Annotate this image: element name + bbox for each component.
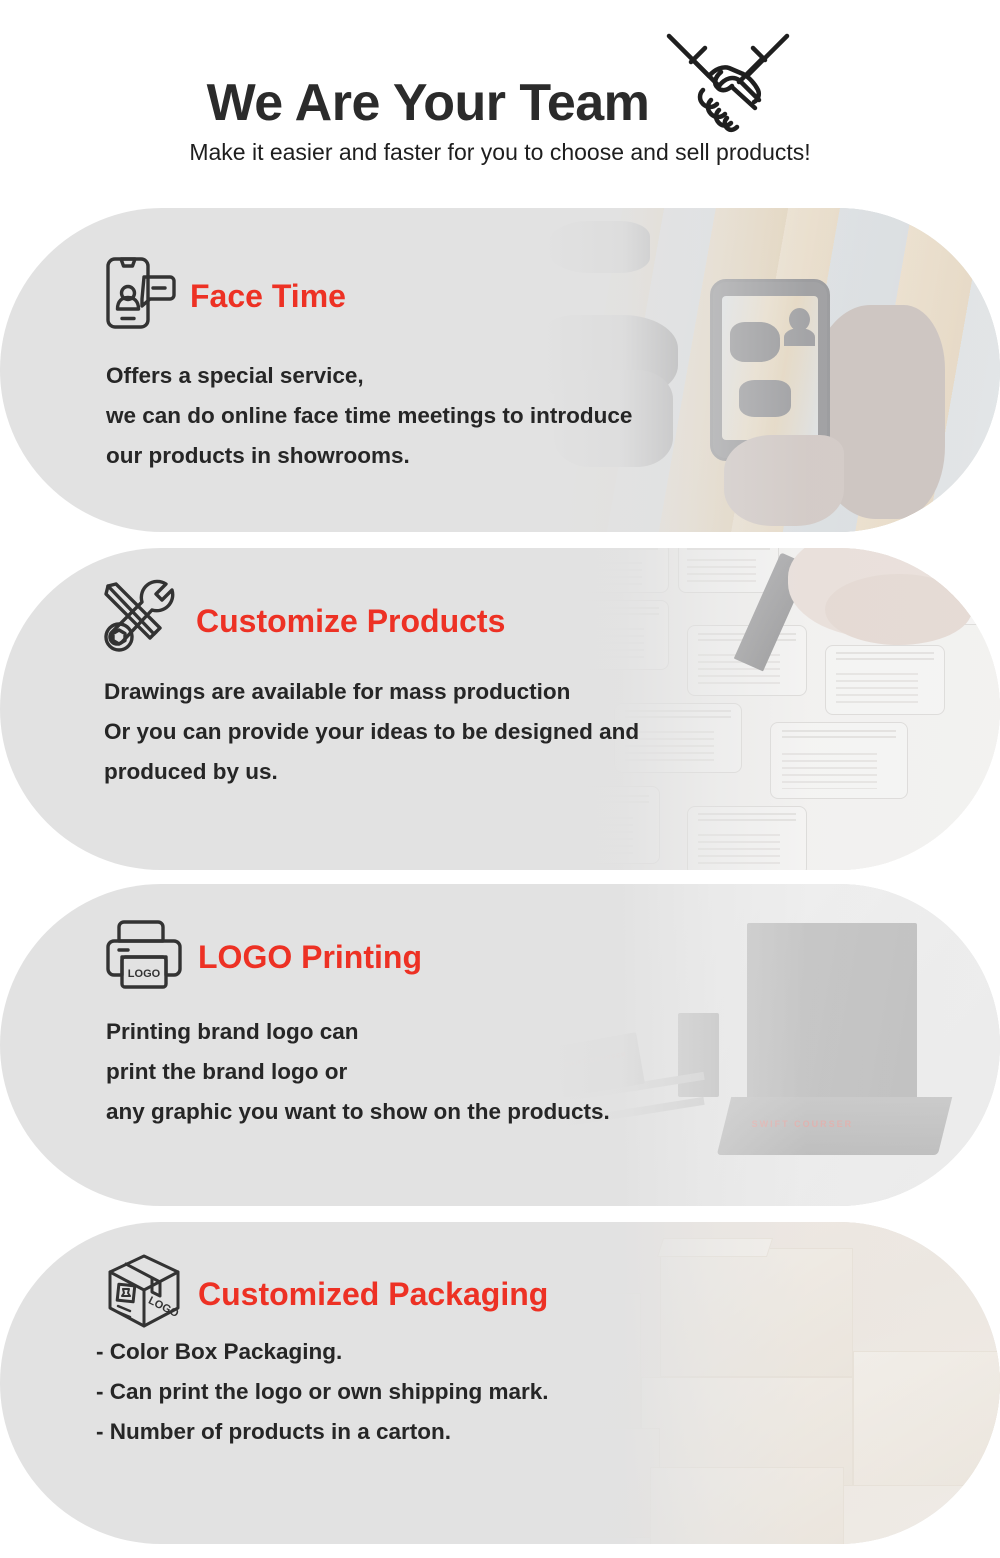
card-face-time: Face Time Offers a special service, we c…	[0, 208, 1000, 532]
card-line: our products in showrooms.	[106, 436, 632, 476]
card-lines-face-time: Offers a special service, we can do onli…	[106, 356, 632, 476]
card-head-face-time: Face Time	[104, 255, 346, 336]
card-lines-customized-packaging: - Color Box Packaging. - Can print the l…	[96, 1332, 549, 1452]
card-logo-printing: SWIFT COURSER SWIFT COURSER LOGO	[0, 884, 1000, 1206]
card-title-logo-printing: LOGO Printing	[198, 941, 422, 973]
printer-logo-label: LOGO	[128, 968, 161, 980]
phone-video-chat-icon	[104, 255, 176, 336]
wrench-screwdriver-icon	[100, 578, 182, 663]
card-lines-customize-products: Drawings are available for mass producti…	[104, 672, 639, 792]
card-title-customized-packaging: Customized Packaging	[198, 1278, 548, 1310]
card-line: - Can print the logo or own shipping mar…	[96, 1372, 549, 1412]
infographic-page: We Are Your Team	[0, 0, 1000, 1558]
card-lines-logo-printing: Printing brand logo can print the brand …	[106, 1012, 610, 1132]
card-line: - Number of products in a carton.	[96, 1412, 549, 1452]
card-line: Drawings are available for mass producti…	[104, 672, 639, 712]
carton-box-logo-icon: LOGO	[104, 1252, 184, 1335]
card-customized-packaging: LOGO Customized Packaging - Color Box Pa…	[0, 1222, 1000, 1544]
card-line: - Color Box Packaging.	[96, 1332, 549, 1372]
page-title: We Are Your Team	[207, 77, 650, 129]
card-title-face-time: Face Time	[190, 280, 346, 312]
card-line: Offers a special service,	[106, 356, 632, 396]
card-head-logo-printing: LOGO LOGO Printing	[104, 916, 422, 997]
header-title-row: We Are Your Team	[0, 62, 1000, 143]
card-customize-products: Customize Products Drawings are availabl…	[0, 548, 1000, 870]
card-title-customize-products: Customize Products	[196, 605, 505, 637]
card-line: print the brand logo or	[106, 1052, 610, 1092]
card-line: produced by us.	[104, 752, 639, 792]
card-line: any graphic you want to show on the prod…	[106, 1092, 610, 1132]
card-line: Printing brand logo can	[106, 1012, 610, 1052]
card-head-customize-products: Customize Products	[100, 578, 505, 663]
card-line: we can do online face time meetings to i…	[106, 396, 632, 436]
handshake-icon	[663, 28, 793, 143]
printer-logo-icon: LOGO	[104, 916, 184, 997]
page-subtitle: Make it easier and faster for you to cho…	[0, 141, 1000, 164]
page-header: We Are Your Team	[0, 0, 1000, 200]
card-head-customized-packaging: LOGO Customized Packaging	[104, 1252, 548, 1335]
card-line: Or you can provide your ideas to be desi…	[104, 712, 639, 752]
